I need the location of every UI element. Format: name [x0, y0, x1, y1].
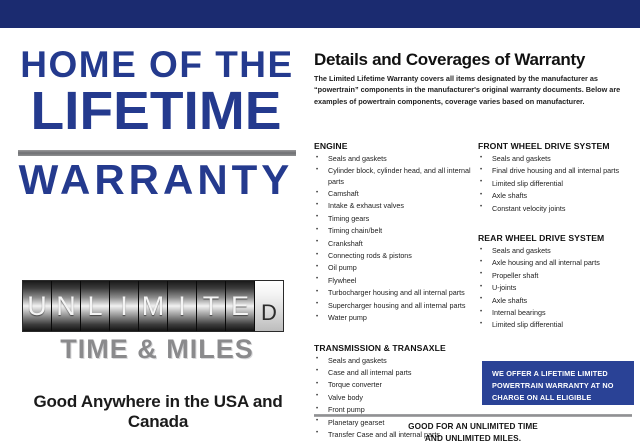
list-item: Turbocharger housing and all internal pa…: [314, 288, 474, 298]
list-item: Seals and gaskets: [478, 246, 636, 256]
section-spacer: [314, 326, 474, 343]
list-item: Case and all internal parts: [314, 368, 474, 378]
list-item: Supercharger housing and all internal pa…: [314, 301, 474, 311]
odometer-letter: E: [231, 293, 249, 320]
list-item: Limited slip differential: [478, 179, 636, 189]
list-item: Seals and gaskets: [478, 154, 636, 164]
list-item: Intake & exhaust valves: [314, 201, 474, 211]
list-item: Oil pump: [314, 263, 474, 273]
coverage-list-engine: Seals and gaskets Cylinder block, cylind…: [314, 154, 474, 323]
odometer-cell-last: D: [255, 281, 283, 331]
section-heading-rear-wheel-drive: REAR WHEEL DRIVE SYSTEM: [478, 233, 636, 243]
section-spacer: [478, 216, 636, 233]
section-heading-front-wheel-drive: FRONT WHEEL DRIVE SYSTEM: [478, 141, 636, 151]
offer-callout-box: WE OFFER A LIFETIME LIMITED POWERTRAIN W…: [482, 361, 634, 405]
list-item: Cylinder block, cylinder head, and all i…: [314, 166, 474, 186]
footer-divider: [314, 414, 632, 417]
odometer-letter: I: [120, 293, 128, 320]
odometer-cell: N: [52, 281, 81, 331]
footer-note: GOOD FOR AN UNLIMITED TIME AND UNLIMITED…: [314, 421, 632, 446]
details-panel: Details and Coverages of Warranty The Li…: [306, 28, 640, 426]
list-item: Seals and gaskets: [314, 356, 474, 366]
odometer-cell: L: [81, 281, 110, 331]
coverage-area-label: Good Anywhere in the USA and Canada: [12, 392, 304, 432]
warranty-flyer: HOME OF THE LIFETIME WARRANTY U N L I M …: [0, 0, 640, 426]
odometer-letter: N: [56, 293, 76, 320]
headline-line-1: HOME OF THE: [12, 46, 302, 83]
odometer-cell: E: [226, 281, 255, 331]
odometer-cell: M: [139, 281, 168, 331]
odometer-letter: I: [178, 293, 186, 320]
list-item: Final drive housing and all internal par…: [478, 166, 636, 176]
odometer-letter: M: [142, 293, 165, 320]
list-item: Torque converter: [314, 380, 474, 390]
section-heading-transmission: TRANSMISSION & TRANSAXLE: [314, 343, 474, 353]
list-item: Limited slip differential: [478, 320, 636, 330]
list-item: Seals and gaskets: [314, 154, 474, 164]
promo-panel: HOME OF THE LIFETIME WARRANTY U N L I M …: [0, 28, 306, 426]
list-item: Propeller shaft: [478, 271, 636, 281]
odometer-cell: T: [197, 281, 226, 331]
list-item: Axle shafts: [478, 296, 636, 306]
footer-line-2: AND UNLIMITED MILES.: [314, 433, 632, 445]
odometer-graphic: U N L I M I T E D: [22, 280, 284, 332]
top-navy-bar: [0, 0, 640, 28]
list-item: Timing chain/belt: [314, 226, 474, 236]
list-item: Water pump: [314, 313, 474, 323]
list-item: Connecting rods & pistons: [314, 251, 474, 261]
list-item: Internal bearings: [478, 308, 636, 318]
list-item: Timing gears: [314, 214, 474, 224]
list-item: Flywheel: [314, 276, 474, 286]
coverage-list-front-wheel-drive: Seals and gaskets Final drive housing an…: [478, 154, 636, 214]
coverage-column-left: ENGINE Seals and gaskets Cylinder block,…: [314, 141, 474, 442]
list-item: Constant velocity joints: [478, 204, 636, 214]
section-heading-engine: ENGINE: [314, 141, 474, 151]
odometer-cell: I: [110, 281, 139, 331]
odometer-cell: I: [168, 281, 197, 331]
details-intro-paragraph: The Limited Lifetime Warranty covers all…: [314, 73, 632, 107]
list-item: U-joints: [478, 283, 636, 293]
list-item: Valve body: [314, 393, 474, 403]
headline-line-2: LIFETIME: [5, 84, 307, 138]
odometer-letter: T: [203, 293, 220, 320]
coverage-list-rear-wheel-drive: Seals and gaskets Axle housing and all i…: [478, 246, 636, 331]
list-item: Axle housing and all internal parts: [478, 258, 636, 268]
odometer-letter: D: [261, 302, 277, 324]
details-title: Details and Coverages of Warranty: [314, 50, 634, 70]
list-item: Axle shafts: [478, 191, 636, 201]
headline-line-3: WARRANTY: [10, 158, 302, 202]
list-item: Crankshaft: [314, 239, 474, 249]
time-and-miles-label: TIME & MILES: [12, 334, 302, 365]
footer-line-1: GOOD FOR AN UNLIMITED TIME: [314, 421, 632, 433]
coverage-column-right: FRONT WHEEL DRIVE SYSTEM Seals and gaske…: [478, 141, 636, 333]
odometer-cell: U: [23, 281, 52, 331]
odometer-letter: L: [87, 293, 102, 320]
list-item: Camshaft: [314, 189, 474, 199]
odometer-letter: U: [27, 293, 47, 320]
offer-callout-text: WE OFFER A LIFETIME LIMITED POWERTRAIN W…: [492, 368, 625, 415]
